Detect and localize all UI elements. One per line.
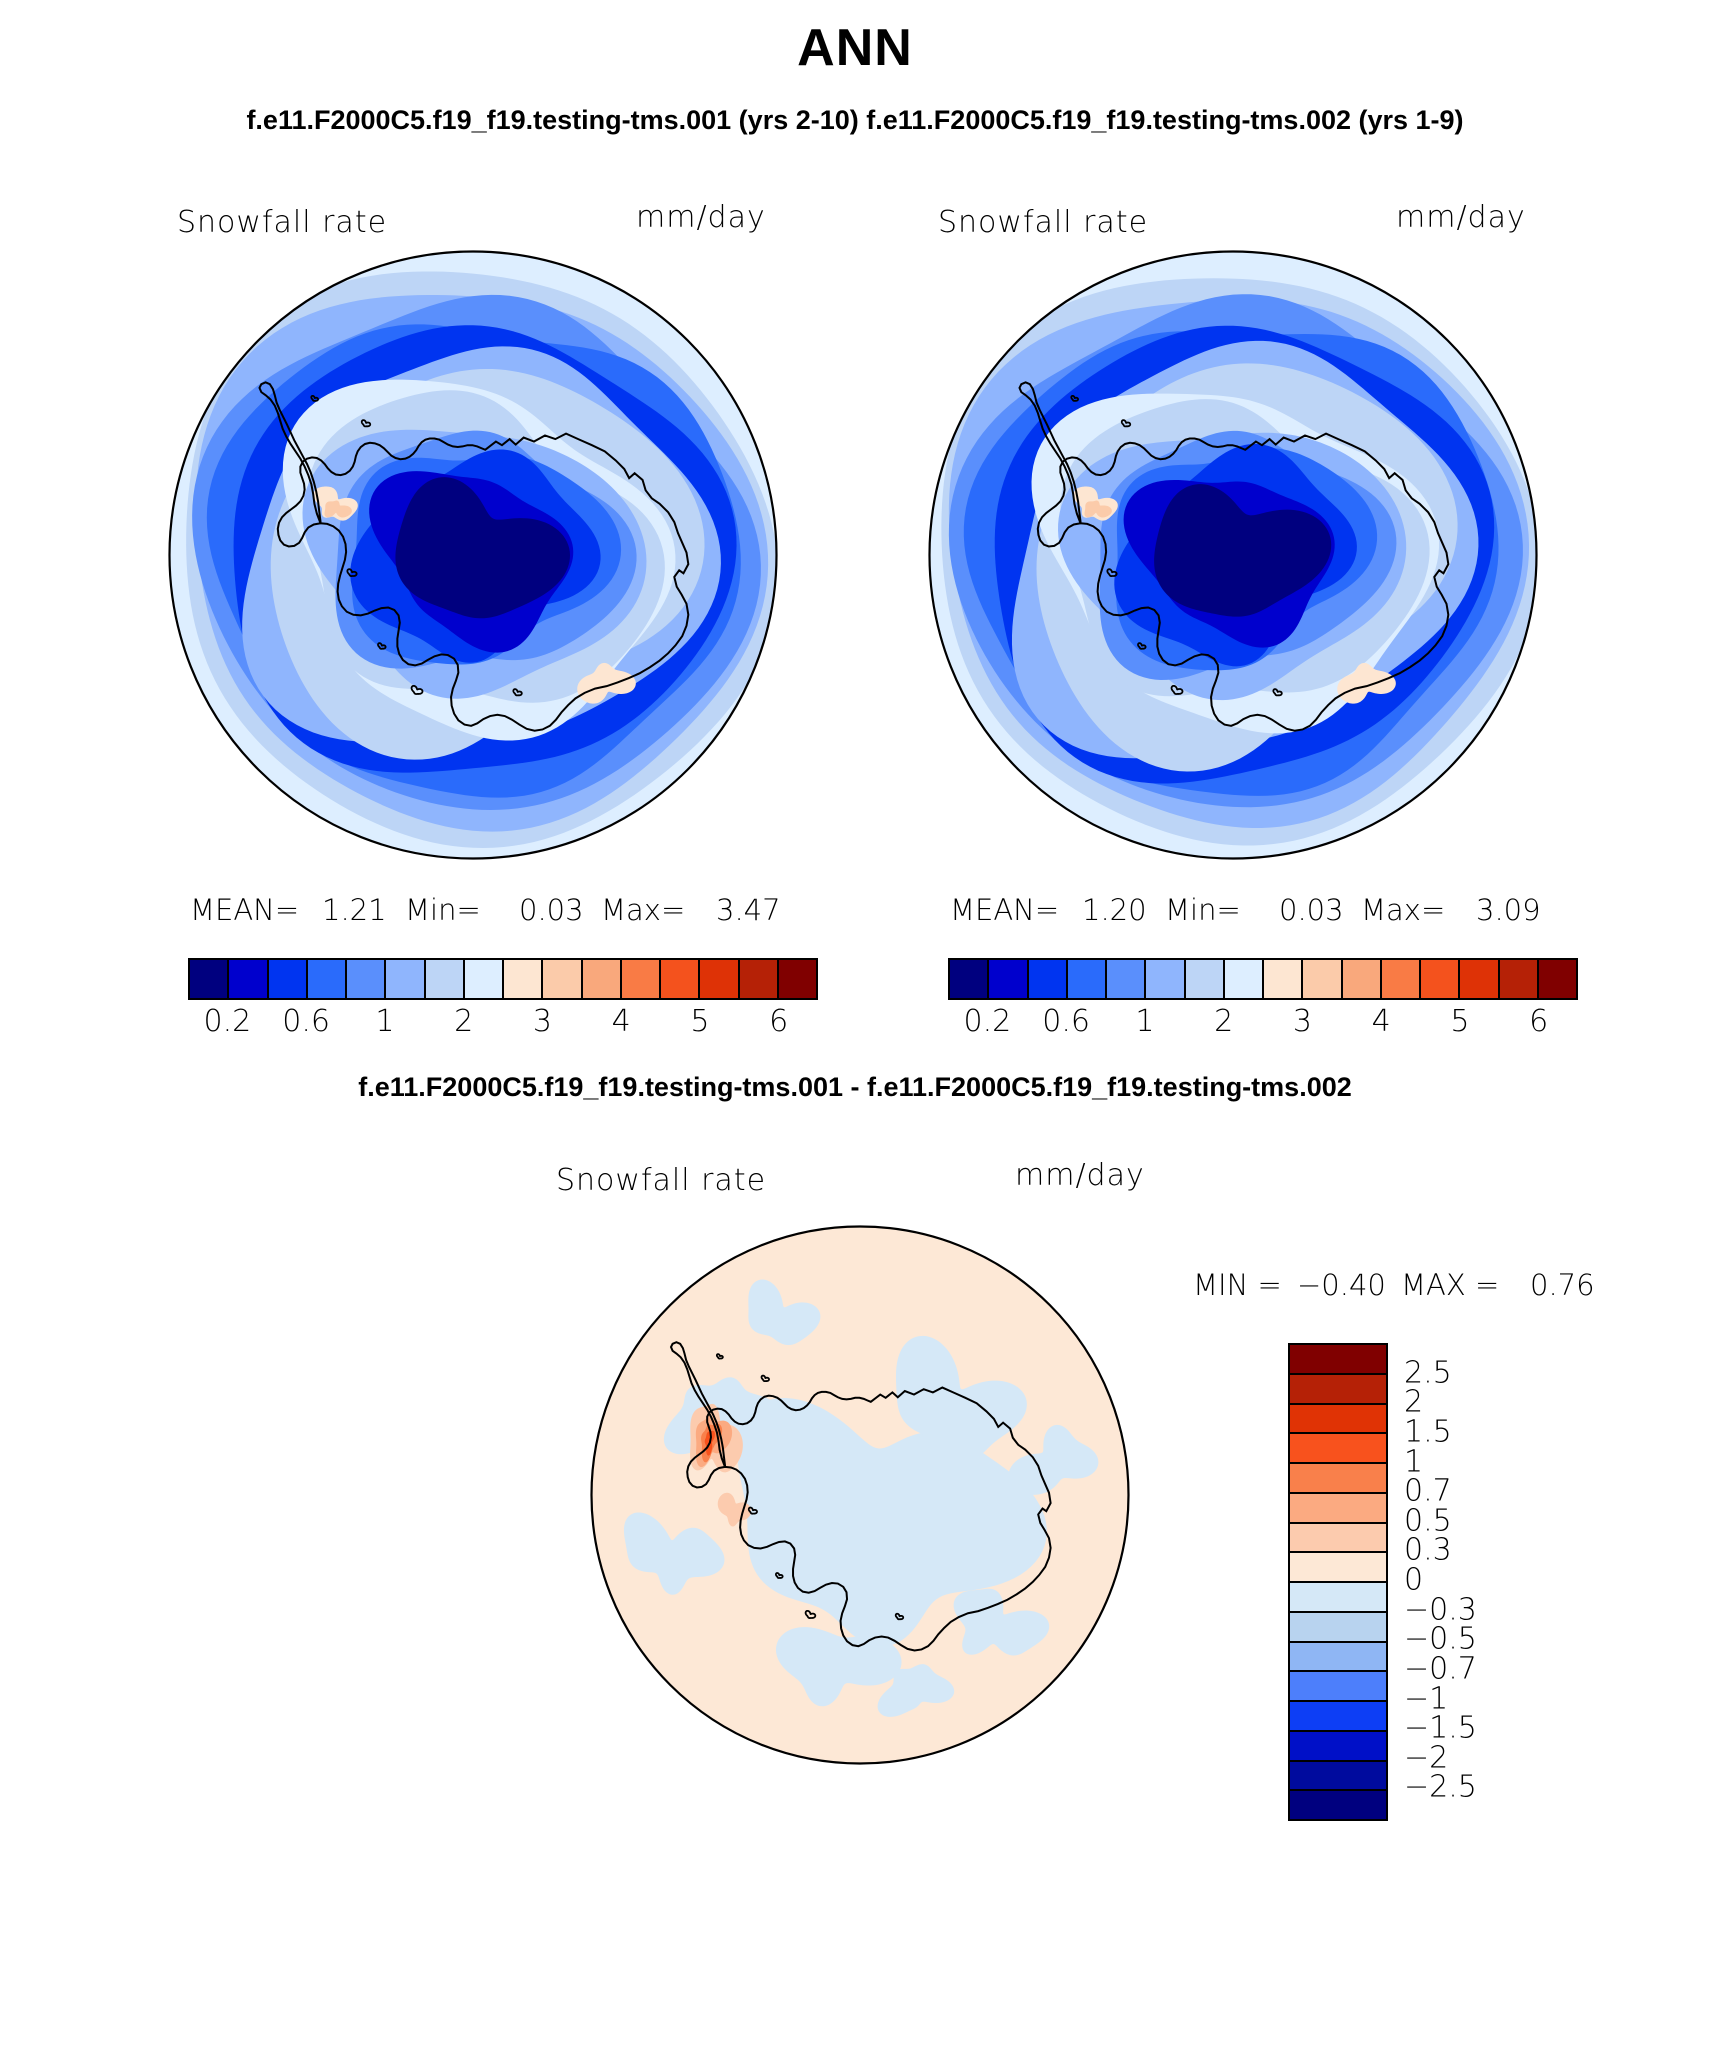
colorbar-cell [1500,960,1539,998]
colorbar-cell [347,960,386,998]
difference-colorbar-ticklabels: 2.521.510.70.50.30−0.3−0.5−0.7−1−1.5−2−2… [1404,1343,1524,1817]
left-mean-value: 1.21 [322,893,387,927]
colorbar-cell [1264,960,1303,998]
difference-panel-title: f.e11.F2000C5.f19_f19.testing-tms.001 - … [0,1072,1710,1103]
colorbar-cell [386,960,425,998]
colorbar-cell [1290,1553,1386,1583]
right-mean-label: MEAN= [950,893,1059,927]
colorbar-cell [504,960,543,998]
colorbar-cell [950,960,989,998]
right-max-label: Max= [1361,893,1445,927]
colorbar-cell [1107,960,1146,998]
right-mean-value: 1.20 [1082,893,1147,927]
colorbar-cell [1290,1345,1386,1375]
right-colorbar-ticklabels: 0.20.6123456 [948,1004,1574,1044]
left-panel-variable-label: Snowfall rate [177,205,387,240]
difference-colorbar[interactable] [1288,1343,1388,1821]
colorbar-cell [779,960,816,998]
colorbar-cell [1290,1732,1386,1762]
left-panel-units-label: mm/day [636,200,766,235]
diff-map-canvas [590,1225,1130,1765]
colorbar-cell [583,960,622,998]
colorbar-cell [1290,1375,1386,1405]
colorbar-tick-label: 0.2 [964,1004,1012,1039]
colorbar-cell [1539,960,1576,998]
colorbar-tick-label: 3 [1293,1004,1312,1039]
colorbar-tick-label: 0.2 [204,1004,252,1039]
colorbar-cell [1343,960,1382,998]
colorbar-tick-label: 1 [1135,1004,1154,1039]
colorbar-cell [1290,1464,1386,1494]
colorbar-cell [1303,960,1342,998]
colorbar-tick-label: 6 [1529,1004,1548,1039]
diff-min-value: −0.40 [1297,1268,1386,1302]
colorbar-cell [229,960,268,998]
colorbar-cell [1225,960,1264,998]
colorbar-tick-label: 4 [612,1004,631,1039]
colorbar-tick-label: 1 [375,1004,394,1039]
colorbar-cell [1068,960,1107,998]
page-title: ANN [0,18,1710,78]
right-panel-units-label: mm/day [1396,200,1526,235]
clim-right-map-canvas [928,250,1538,860]
colorbar-tick-label: 3 [533,1004,552,1039]
colorbar-cell [1290,1583,1386,1613]
colorbar-cell [1290,1405,1386,1435]
left-polar-map[interactable] [168,250,778,860]
colorbar-tick-label: 2 [1214,1004,1233,1039]
colorbar-cell [740,960,779,998]
colorbar-cell [661,960,700,998]
diff-panel-units-label: mm/day [1015,1158,1145,1193]
diff-min-label: MIN = [1193,1268,1282,1302]
colorbar-cell [465,960,504,998]
left-max-label: Max= [601,893,685,927]
colorbar-tick-label: 2 [454,1004,473,1039]
right-min-value: 0.03 [1279,893,1344,927]
left-mean-label: MEAN= [190,893,299,927]
colorbar-tick-label: 5 [1450,1004,1469,1039]
colorbar-cell [1186,960,1225,998]
colorbar-tick-label: −2.5 [1404,1770,1477,1805]
difference-polar-map[interactable] [590,1225,1130,1765]
colorbar-cell [1290,1643,1386,1673]
case-subtitle: f.e11.F2000C5.f19_f19.testing-tms.001 (y… [0,105,1710,136]
left-colorbar-ticklabels: 0.20.6123456 [188,1004,814,1044]
colorbar-cell [269,960,308,998]
left-min-label: Min= [405,893,481,927]
colorbar-tick-label: 6 [769,1004,788,1039]
colorbar-tick-label: 4 [1372,1004,1391,1039]
right-max-value: 3.09 [1476,893,1541,927]
colorbar-cell [1290,1702,1386,1732]
diff-max-value: 0.76 [1530,1268,1595,1302]
colorbar-cell [622,960,661,998]
diff-max-label: MAX = [1401,1268,1499,1302]
right-colorbar[interactable] [948,958,1578,1000]
colorbar-cell [1290,1613,1386,1643]
colorbar-cell [190,960,229,998]
colorbar-tick-label: 0.6 [282,1004,330,1039]
colorbar-cell [1290,1494,1386,1524]
colorbar-cell [1290,1762,1386,1792]
colorbar-cell [1290,1791,1386,1819]
clim-left-map-canvas [168,250,778,860]
colorbar-cell [1460,960,1499,998]
right-panel-variable-label: Snowfall rate [938,205,1148,240]
colorbar-cell [426,960,465,998]
right-polar-map[interactable] [928,250,1538,860]
colorbar-cell [1382,960,1421,998]
right-min-label: Min= [1165,893,1241,927]
colorbar-cell [700,960,739,998]
diff-panel-variable-label: Snowfall rate [556,1163,766,1198]
colorbar-tick-label: 0.6 [1042,1004,1090,1039]
colorbar-cell [1146,960,1185,998]
left-colorbar[interactable] [188,958,818,1000]
colorbar-cell [989,960,1028,998]
colorbar-cell [308,960,347,998]
colorbar-cell [1290,1434,1386,1464]
colorbar-cell [1290,1524,1386,1554]
colorbar-cell [1029,960,1068,998]
colorbar-cell [1421,960,1460,998]
colorbar-cell [1290,1672,1386,1702]
left-min-value: 0.03 [519,893,584,927]
left-max-value: 3.47 [716,893,781,927]
colorbar-cell [543,960,582,998]
colorbar-tick-label: 5 [690,1004,709,1039]
